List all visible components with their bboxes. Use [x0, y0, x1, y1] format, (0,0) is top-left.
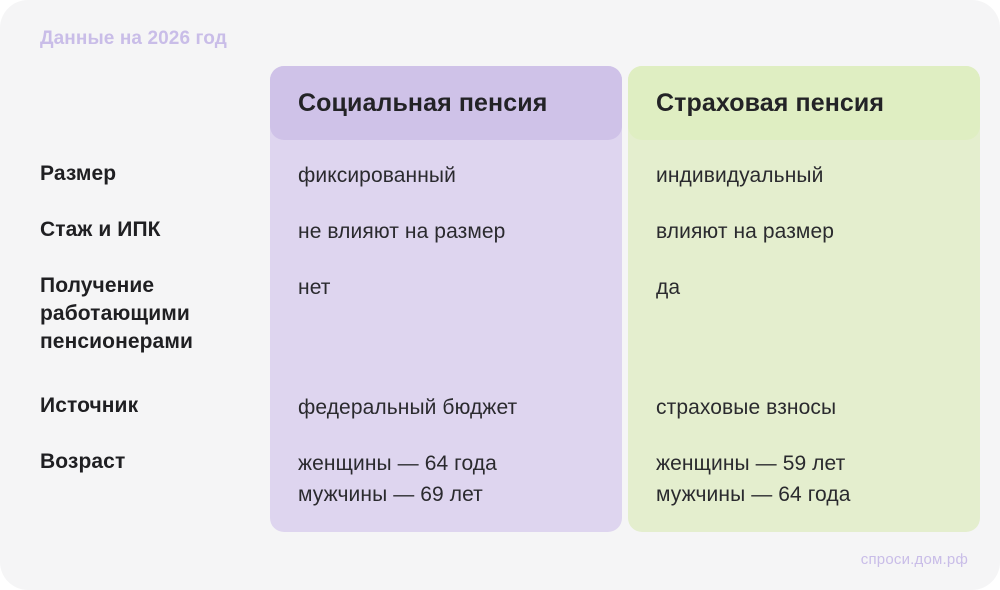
cell-insurance-size: индивидуальный	[656, 160, 976, 191]
row-label-working-pensioners: Получение работающими пенсионерами	[40, 272, 265, 356]
cell-insurance-working-pensioners: да	[656, 272, 976, 303]
row-label-source: Источник	[40, 392, 265, 420]
cell-insurance-source: страховые взносы	[656, 392, 976, 423]
comparison-grid: Размер фиксированный индивидуальный Стаж…	[0, 0, 1000, 590]
row-label-age: Возраст	[40, 448, 265, 476]
cell-insurance-age: женщины — 59 лет мужчины — 64 года	[656, 448, 976, 510]
cell-insurance-experience-ipk: влияют на размер	[656, 216, 976, 247]
source-watermark: спроси.дом.рф	[861, 551, 968, 568]
row-label-experience-ipk: Стаж и ИПК	[40, 216, 265, 244]
cell-social-source: федеральный бюджет	[298, 392, 618, 423]
infographic-card: Данные на 2026 год Социальная пенсия Стр…	[0, 0, 1000, 590]
cell-social-experience-ipk: не влияют на размер	[298, 216, 618, 247]
cell-social-size: фиксированный	[298, 160, 618, 191]
row-label-size: Размер	[40, 160, 265, 188]
cell-social-working-pensioners: нет	[298, 272, 618, 303]
cell-social-age: женщины — 64 года мужчины — 69 лет	[298, 448, 618, 510]
